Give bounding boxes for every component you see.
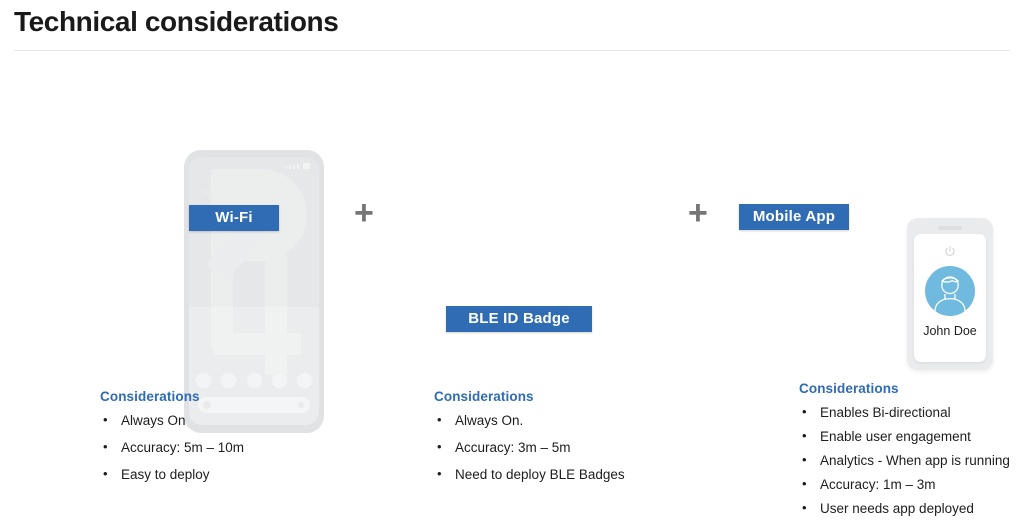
dock-icon-camera — [296, 372, 313, 389]
android-screen: Tuesday, Oct 15 — [189, 157, 319, 425]
label-mobile-app[interactable]: Mobile App — [739, 204, 849, 230]
list-item: User needs app deployed — [799, 501, 1023, 516]
considerations-list-wifi: Always On Accuracy: 5m – 10m Easy to dep… — [100, 413, 390, 482]
dock-icon-gmail — [195, 372, 212, 389]
android-status-bar-icons — [285, 163, 311, 169]
label-wifi[interactable]: Wi-Fi — [189, 205, 279, 231]
badge-card: John Doe — [914, 234, 986, 362]
considerations-mobile-app: Considerations Enables Bi-directional En… — [799, 381, 1023, 525]
badge-slot — [938, 226, 962, 230]
label-ble-id-badge[interactable]: BLE ID Badge — [446, 306, 592, 332]
ble-id-badge-illustration: John Doe — [907, 218, 993, 370]
list-item: Enable user engagement — [799, 429, 1023, 444]
considerations-heading: Considerations — [100, 389, 390, 404]
android-dock — [195, 372, 313, 389]
list-item: Need to deploy BLE Badges — [434, 467, 724, 482]
considerations-list-ble-badge: Always On. Accuracy: 3m – 5m Need to dep… — [434, 413, 724, 482]
avatar-person-glyph — [925, 266, 975, 316]
list-item: Analytics - When app is running — [799, 453, 1023, 468]
list-item: Enables Bi-directional — [799, 405, 1023, 420]
title-divider — [14, 50, 1010, 51]
power-icon — [944, 245, 957, 258]
list-item: Always On. — [434, 413, 724, 428]
plus-separator-2: + — [688, 196, 708, 230]
list-item: Accuracy: 5m – 10m — [100, 440, 390, 455]
plus-separator-1: + — [354, 196, 374, 230]
list-item: Accuracy: 1m – 3m — [799, 477, 1023, 492]
considerations-heading: Considerations — [799, 381, 1023, 396]
android-date-widget: Tuesday, Oct 15 — [203, 190, 254, 197]
dock-icon-chrome — [246, 372, 263, 389]
page-title: Technical considerations — [14, 6, 338, 38]
dock-icon-photos — [220, 372, 237, 389]
list-item: Accuracy: 3m – 5m — [434, 440, 724, 455]
considerations-heading: Considerations — [434, 389, 724, 404]
considerations-list-mobile-app: Enables Bi-directional Enable user engag… — [799, 405, 1023, 516]
dock-icon-maps — [271, 372, 288, 389]
badge-holder-name: John Doe — [914, 324, 986, 338]
considerations-ble-badge: Considerations Always On. Accuracy: 3m –… — [434, 389, 724, 494]
person-avatar-icon — [925, 266, 975, 316]
list-item: Always On — [100, 413, 390, 428]
considerations-wifi: Considerations Always On Accuracy: 5m – … — [100, 389, 390, 494]
list-item: Easy to deploy — [100, 467, 390, 482]
